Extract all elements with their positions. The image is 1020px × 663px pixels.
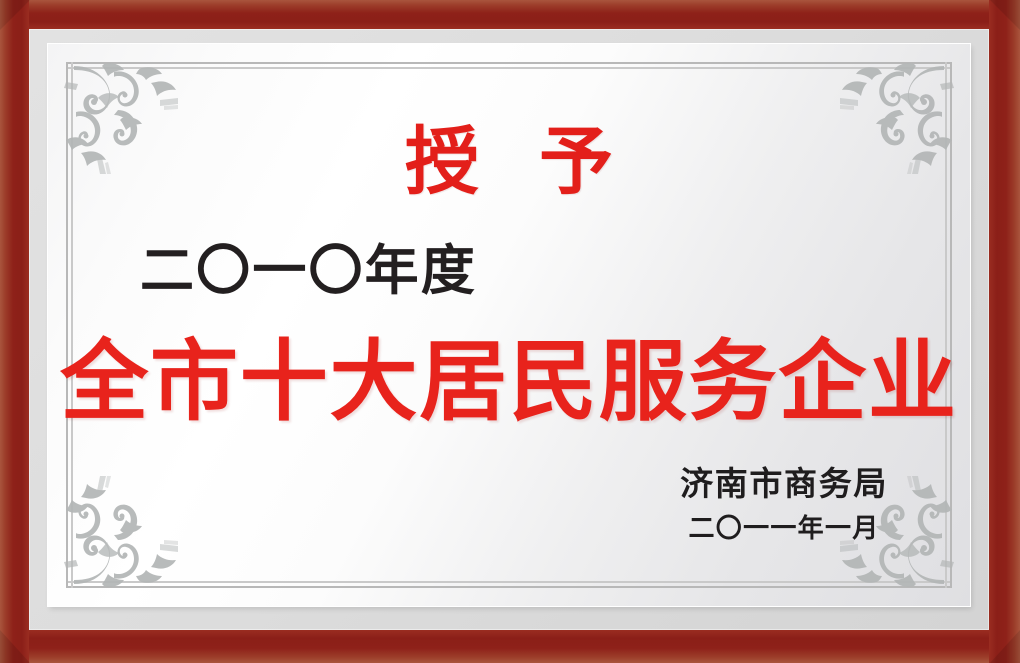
frame-mitre-top-right [990, 0, 1020, 30]
issuer-date: 二〇一一年一月 [680, 513, 888, 544]
issuer-block: 济南市商务局 二〇一一年一月 [680, 463, 888, 544]
award-year-line: 二〇一〇年度 [140, 244, 477, 298]
award-headline: 全市十大居民服务企业 [48, 332, 970, 436]
frame-mitre-top-left [0, 0, 30, 30]
frame-right-stile [989, 0, 1020, 663]
issuer-name: 济南市商务局 [680, 463, 888, 504]
frame-mitre-bottom-left [0, 630, 30, 663]
plaque-content: 授 予 二〇一〇年度 全市十大居民服务企业 济南市商务局 二〇一一年一月 [48, 44, 970, 606]
frame-top-rail [0, 0, 1020, 29]
frame-bottom-rail [0, 630, 1020, 663]
plaque-panel: 授 予 二〇一〇年度 全市十大居民服务企业 济南市商务局 二〇一一年一月 [48, 44, 970, 606]
frame-left-stile [0, 0, 29, 663]
award-plaque: 授 予 二〇一〇年度 全市十大居民服务企业 济南市商务局 二〇一一年一月 [0, 0, 1020, 663]
frame-mitre-bottom-right [990, 630, 1020, 663]
award-word: 授 予 [48, 126, 970, 200]
